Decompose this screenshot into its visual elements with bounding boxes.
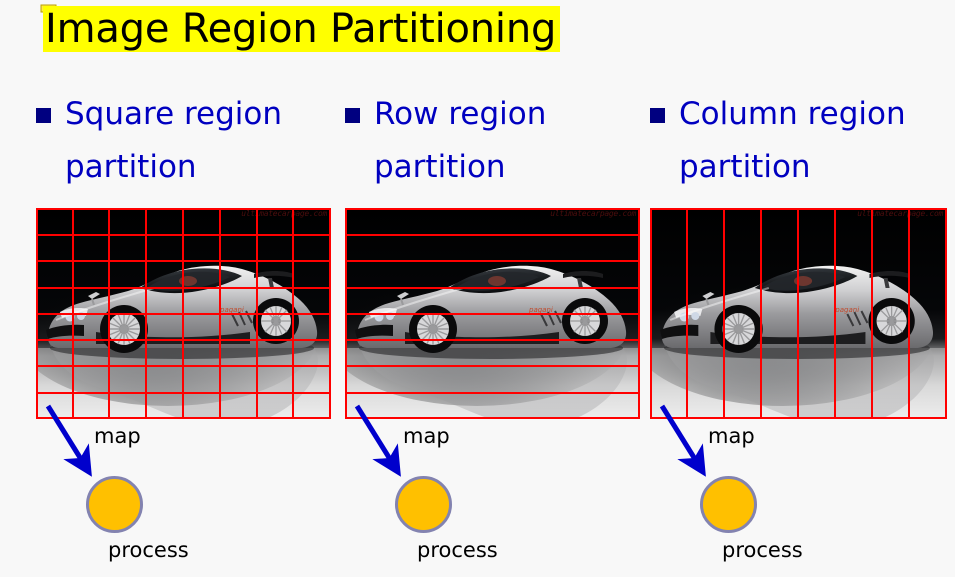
car-image-column-partition: pagani [650,208,947,419]
process-circle [86,476,143,533]
flow-square-partition: map process [36,404,336,577]
flow-column-partition: map process [650,404,950,577]
heading-column-region: Column region partition [650,88,950,194]
car-image-row-partition: pagani [345,208,640,419]
map-label: map [403,424,450,448]
process-label: process [417,538,498,562]
square-bullet-icon [345,108,360,123]
svg-text:pagani: pagani [528,306,553,314]
process-circle [395,476,452,533]
svg-text:pagani: pagani [219,306,244,314]
process-label: process [722,538,803,562]
heading-label-row: Row region partition [374,88,546,194]
map-label: map [94,424,141,448]
square-bullet-icon [650,108,665,123]
page-title: Image Region Partitioning [43,6,560,52]
process-label: process [108,538,189,562]
heading-row-region: Row region partition [345,88,641,194]
square-bullet-icon [36,108,51,123]
heading-label-square: Square region partition [65,88,282,194]
map-label: map [708,424,755,448]
process-circle [700,476,757,533]
heading-square-region: Square region partition [36,88,336,194]
car-image-square-partition: pagani [36,208,331,419]
heading-label-column: Column region partition [679,88,906,194]
flow-row-partition: map process [345,404,645,577]
svg-text:pagani: pagani [834,305,859,314]
